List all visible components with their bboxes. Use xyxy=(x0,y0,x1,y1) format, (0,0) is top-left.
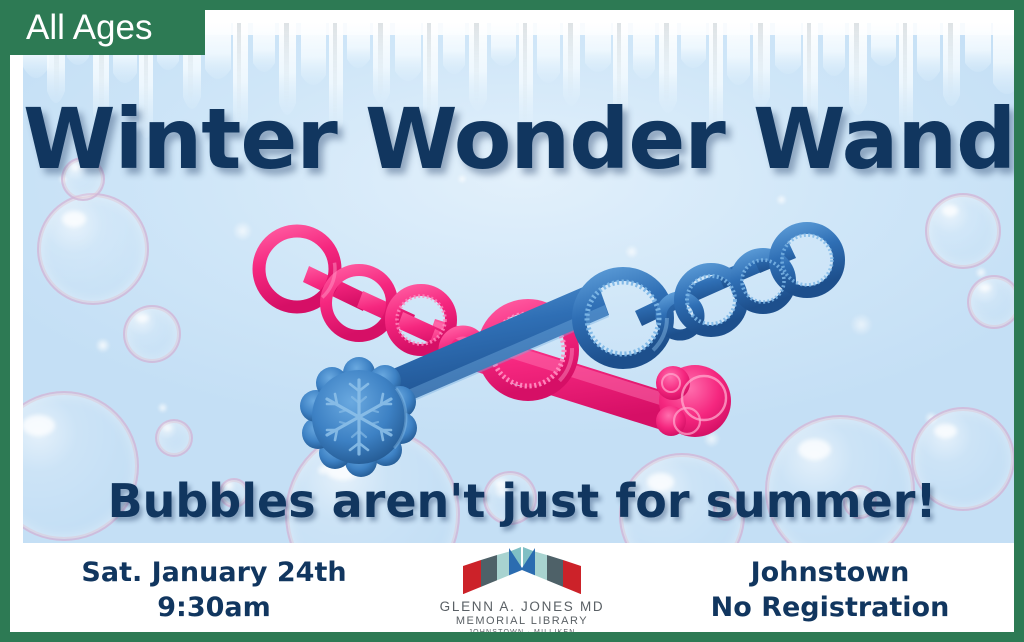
logo-subtitle-line: MEMORIAL LIBRARY xyxy=(456,615,588,627)
pink-bubble-wand xyxy=(259,231,731,437)
page-title: Winter Wonder Wands xyxy=(23,97,1014,181)
poster-inner-frame: Winter Wonder Wands Bubbles aren't just … xyxy=(10,10,1014,632)
soap-bubble xyxy=(37,193,149,305)
scene-photo: Winter Wonder Wands Bubbles aren't just … xyxy=(23,23,1014,543)
footer-bar: Sat. January 24th 9:30am xyxy=(23,543,1014,632)
soap-bubble xyxy=(155,419,193,457)
library-logo: GLENN A. JONES MD MEMORIAL LIBRARY JOHNS… xyxy=(402,546,642,632)
blue-bubble-wand xyxy=(300,228,839,477)
location-city: Johnstown xyxy=(665,556,995,591)
soap-bubble xyxy=(123,305,181,363)
event-datetime: Sat. January 24th 9:30am xyxy=(49,556,379,625)
registration-note: No Registration xyxy=(665,591,995,626)
event-date: Sat. January 24th xyxy=(49,556,379,591)
soap-bubble xyxy=(967,275,1014,329)
poster: Winter Wonder Wands Bubbles aren't just … xyxy=(0,0,1024,642)
logo-branches-line: JOHNSTOWN · MILLIKEN xyxy=(468,629,575,632)
logo-name-line: GLENN A. JONES MD xyxy=(440,599,605,614)
soap-bubble xyxy=(925,193,1001,269)
open-book-logo-icon xyxy=(459,546,585,598)
age-badge: All Ages xyxy=(0,0,205,55)
event-location: Johnstown No Registration xyxy=(665,556,995,625)
event-time: 9:30am xyxy=(49,591,379,626)
tagline: Bubbles aren't just for summer! xyxy=(23,478,1014,524)
